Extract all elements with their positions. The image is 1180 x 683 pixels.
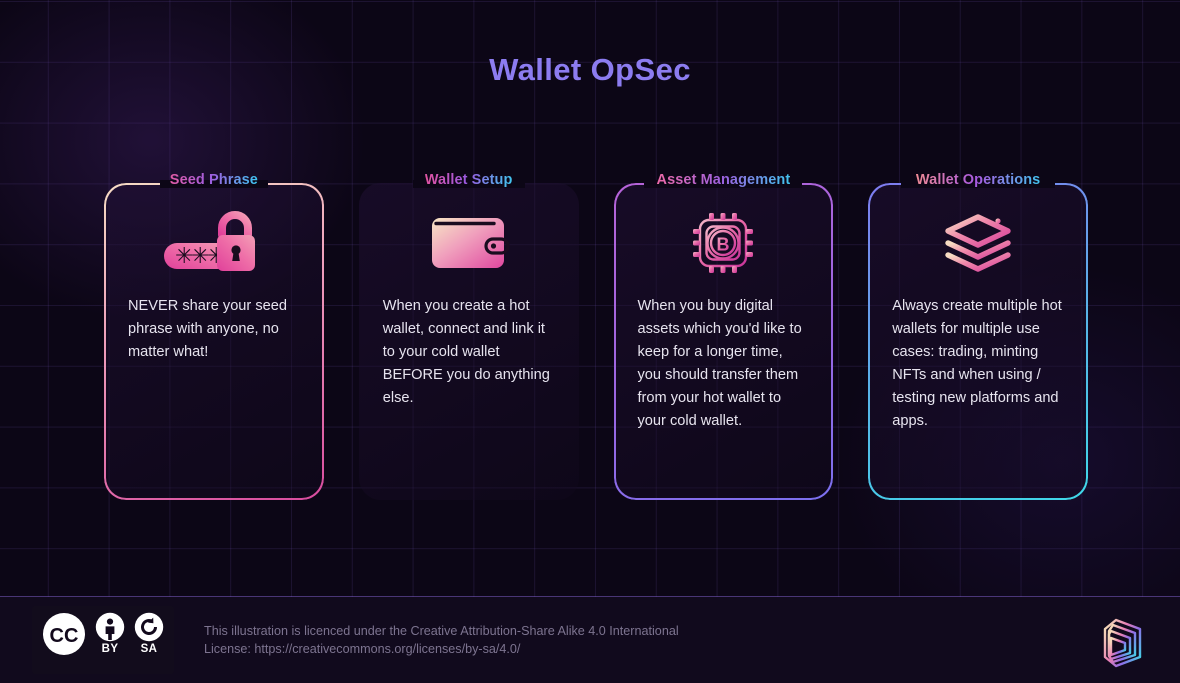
svg-text:CC: CC — [50, 625, 79, 647]
badge-label-sa: SA — [141, 643, 158, 655]
creative-commons-icon: CC — [42, 612, 86, 656]
card-title-seed-phrase: Seed Phrase — [170, 172, 258, 188]
badge-by: BY — [95, 612, 125, 655]
card-seed-phrase: Seed Phrase ✳ ✳ ✳ — [104, 183, 324, 500]
license-line-1: This illustration is licenced under the … — [204, 622, 679, 640]
card-title-wallet-setup: Wallet Setup — [425, 172, 513, 188]
badge-sa: SA — [134, 612, 164, 655]
layers-stack-icon — [868, 183, 1088, 295]
share-alike-icon — [134, 612, 164, 642]
card-wallet-operations: Wallet Operations Always create — [868, 183, 1088, 500]
license-text: This illustration is licenced under the … — [204, 622, 679, 659]
attribution-person-icon — [95, 612, 125, 642]
card-title-wallet-operations: Wallet Operations — [916, 172, 1040, 188]
card-body-seed-phrase: NEVER share your seed phrase with anyone… — [104, 295, 324, 364]
card-title-asset-management: Asset Management — [657, 172, 791, 188]
card-asset-management: Asset Management — [614, 183, 834, 500]
brand-hexagon-logo — [1096, 615, 1152, 676]
card-body-asset-management: When you buy digital assets which you'd … — [614, 295, 834, 433]
bitcoin-chip-icon: B — [614, 183, 834, 295]
footer: CC BY SA This illustration is licenced u… — [0, 597, 1180, 683]
card-body-wallet-setup: When you create a hot wallet, connect an… — [359, 295, 579, 410]
cards-row: Seed Phrase ✳ ✳ ✳ — [104, 183, 1088, 500]
license-line-2: License: https://creativecommons.org/lic… — [204, 640, 679, 658]
page-title: Wallet OpSec — [0, 52, 1180, 88]
password-padlock-icon: ✳ ✳ ✳ — [104, 183, 324, 295]
creative-commons-badges: CC BY SA — [32, 606, 174, 674]
card-wallet-setup: Wallet Setup When you create a hot walle… — [359, 183, 579, 500]
badge-label-by: BY — [102, 643, 119, 655]
badge-cc: CC — [42, 612, 86, 670]
card-body-wallet-operations: Always create multiple hot wallets for m… — [868, 295, 1088, 433]
wallet-icon — [359, 183, 579, 295]
